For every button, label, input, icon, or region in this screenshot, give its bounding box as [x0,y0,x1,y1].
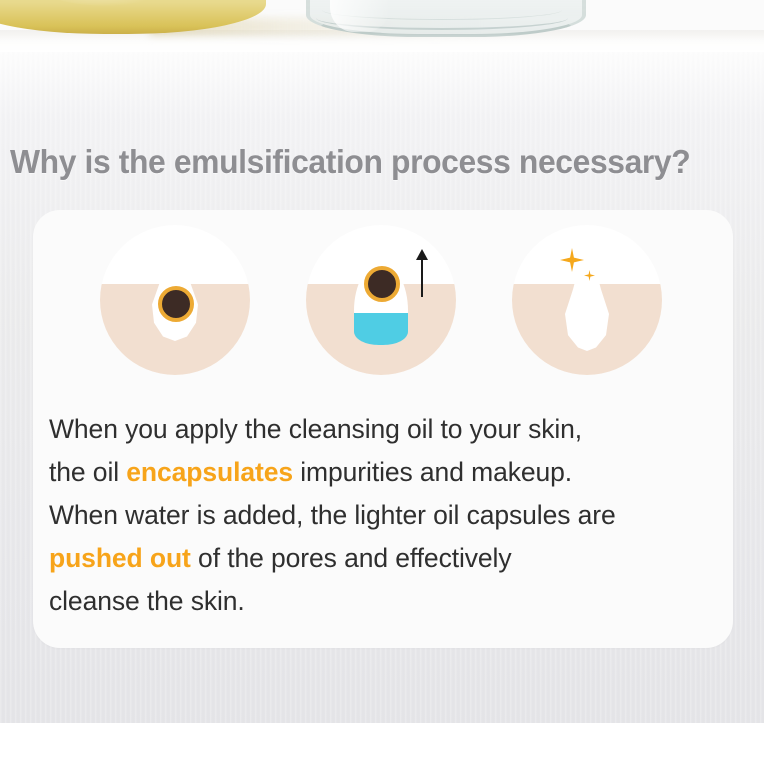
highlighted-phrase: pushed out [49,543,191,573]
water-fill [354,313,408,345]
illustration-row [33,210,733,386]
bottom-white-strip [0,723,764,764]
page-title: Why is the emulsification process necess… [10,143,738,181]
water-wave-icon [376,313,408,321]
paragraph-line: pushed out of the pores and effectively [49,537,721,580]
highlighted-phrase: encapsulates [126,457,293,487]
impurity-capsule-icon [158,286,194,322]
illustration-step-2 [306,225,456,375]
up-arrow-icon [416,249,429,297]
paragraph-text: When water is added, the lighter oil cap… [49,500,616,530]
photo-bottom-fade [0,34,764,52]
paragraph-text: of the pores and effectively [191,543,512,573]
paragraph-text: cleanse the skin. [49,586,245,616]
paragraph-text: When you apply the cleansing oil to your… [49,414,582,444]
paragraph-text: the oil [49,457,126,487]
illustration-step-1 [100,225,250,375]
infographic-page: Why is the emulsification process necess… [0,0,764,764]
body-paragraph: When you apply the cleansing oil to your… [49,408,721,623]
arrow-stem [421,257,423,297]
paragraph-line: When water is added, the lighter oil cap… [49,494,721,537]
info-card: When you apply the cleansing oil to your… [33,210,733,648]
product-photo [0,0,764,52]
paragraph-line: cleanse the skin. [49,580,721,623]
paragraph-line: When you apply the cleansing oil to your… [49,408,721,451]
paragraph-text: impurities and makeup. [293,457,572,487]
paragraph-line: the oil encapsulates impurities and make… [49,451,721,494]
illustration-step-3 [512,225,662,375]
impurity-capsule-icon [364,266,400,302]
